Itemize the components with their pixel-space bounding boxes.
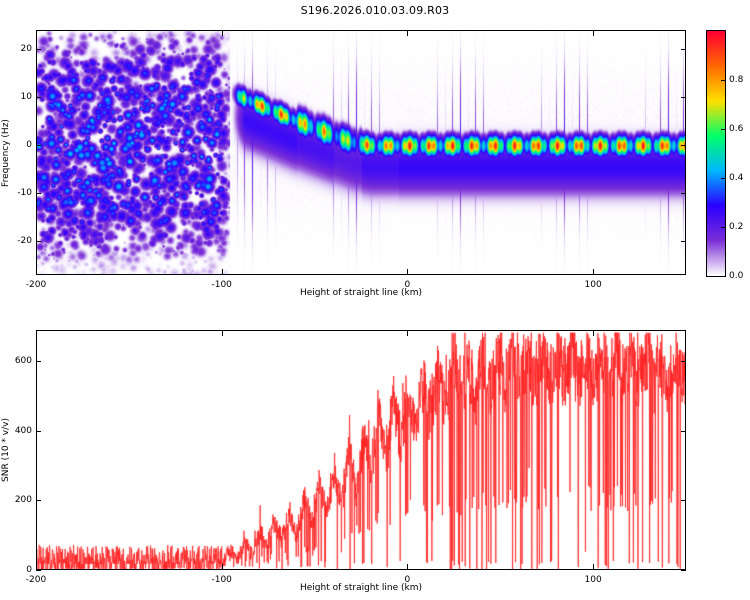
axis-tick-label: -20 [17,236,32,246]
axis-tick-mark [36,570,41,571]
figure-root: S196.2026.010.03.09.R03 -20-1001020 -200… [0,0,750,600]
axis-tick-label: 100 [585,280,602,290]
axis-tick-mark [36,241,41,242]
axis-tick-label: 0 [26,140,32,150]
axis-tick-mark [36,431,41,432]
axis-tick-mark [36,193,41,194]
axis-tick-mark [36,564,37,569]
colorbar-tick-label: 0.4 [729,173,743,183]
axis-tick-mark [222,331,223,336]
figure-title: S196.2026.010.03.09.R03 [0,4,750,17]
axis-tick-mark [222,31,223,36]
axis-tick-label: 10 [21,92,32,102]
axis-tick-mark [407,331,408,336]
axis-tick-label: 20 [21,44,32,54]
colorbar-tick-mark [721,227,725,228]
axis-tick-mark [593,269,594,274]
axis-tick-mark [222,269,223,274]
snr-x-label: Height of straight line (km) [300,583,422,593]
axis-tick-mark [36,97,41,98]
colorbar-gradient [707,31,725,276]
axis-tick-label: -100 [211,575,231,585]
axis-tick-mark [36,269,37,274]
axis-tick-mark [593,31,594,36]
axis-tick-mark [593,331,594,336]
axis-tick-label: -10 [17,188,32,198]
axis-tick-mark [36,500,41,501]
axis-tick-label: -200 [26,575,46,585]
spectrogram-y-label: Frequency (Hz) [1,119,11,187]
colorbar-tick-mark [721,178,725,179]
colorbar-tick-mark [721,276,725,277]
axis-tick-mark [36,361,41,362]
snr-canvas [37,331,686,570]
axis-tick-label: 0 [26,565,32,575]
axis-tick-label: -100 [211,280,231,290]
snr-y-label: SNR (10 * v/v) [1,418,11,482]
axis-tick-label: 200 [15,495,32,505]
axis-tick-mark [681,145,686,146]
snr-plot-area [36,330,686,570]
colorbar-tick-mark [721,129,725,130]
axis-tick-mark [36,31,37,36]
colorbar-tick-label: 0.8 [729,75,743,85]
axis-tick-mark [36,145,41,146]
axis-tick-label: 100 [585,575,602,585]
axis-tick-mark [222,564,223,569]
axis-tick-mark [681,193,686,194]
axis-tick-mark [681,49,686,50]
axis-tick-mark [36,49,41,50]
axis-tick-mark [681,241,686,242]
spectrogram-canvas [37,31,686,275]
axis-tick-mark [681,97,686,98]
colorbar-tick-label: 0.2 [729,222,743,232]
axis-tick-mark [681,431,686,432]
axis-tick-mark [407,564,408,569]
axis-tick-mark [36,331,37,336]
axis-tick-mark [681,361,686,362]
axis-tick-label: -200 [26,280,46,290]
spectrogram-panel: -20-1001020 -200-1000100 Frequency (Hz) … [36,30,686,275]
axis-tick-mark [681,570,686,571]
spectrogram-x-label: Height of straight line (km) [300,288,422,298]
colorbar-tick-label: 0.0 [729,271,743,281]
axis-tick-mark [407,269,408,274]
axis-tick-mark [681,500,686,501]
spectrogram-plot-area [36,30,686,275]
colorbar-tick-label: 0.6 [729,124,743,134]
axis-tick-mark [593,564,594,569]
axis-tick-label: 400 [15,426,32,436]
colorbar-tick-mark [721,80,725,81]
colorbar: 0.00.20.40.60.8 [706,30,726,277]
snr-panel: 0200400600 -200-1000100 SNR (10 * v/v) H… [36,330,686,570]
axis-tick-mark [407,31,408,36]
axis-tick-label: 600 [15,356,32,366]
